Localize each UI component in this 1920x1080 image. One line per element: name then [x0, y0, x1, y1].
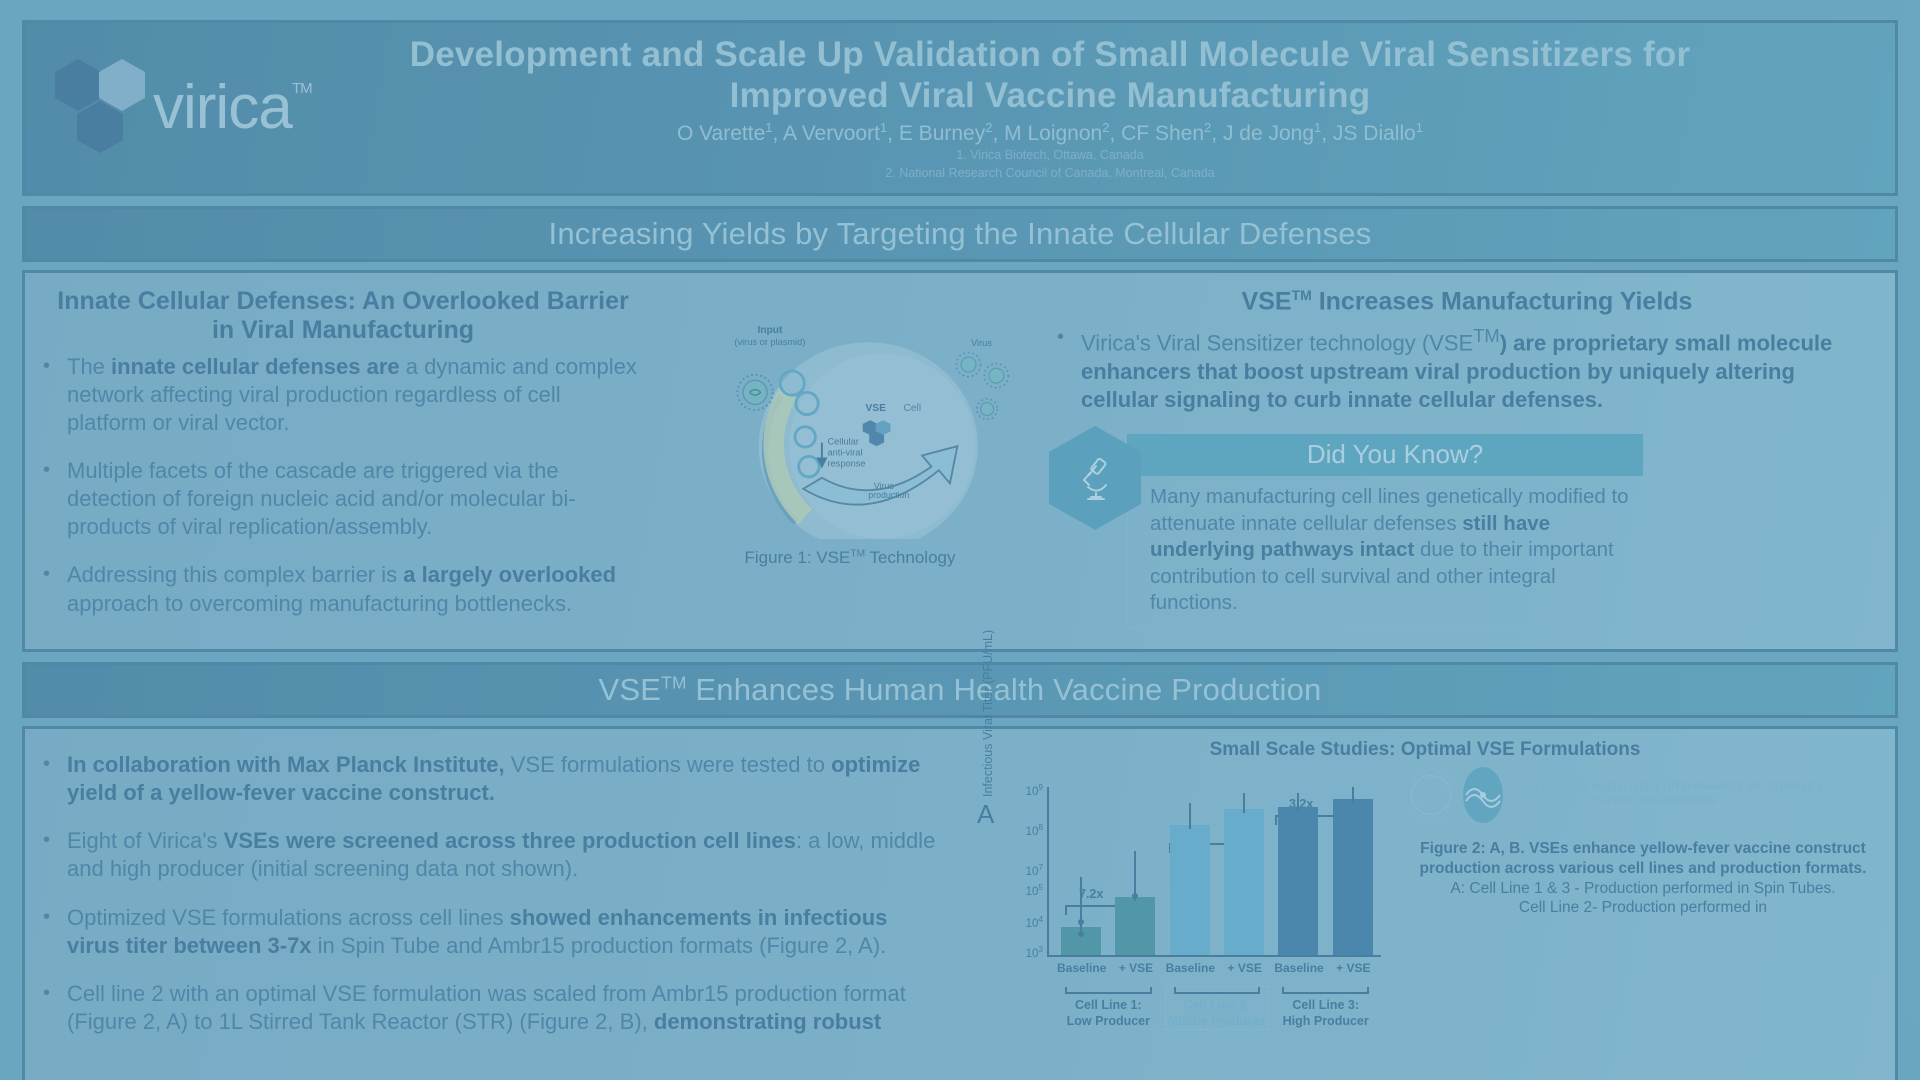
chart-group-labels: Cell Line 1: Low Producer Cell Line 2: M… [1057, 987, 1377, 1029]
bullet-dot-icon: • [1057, 324, 1067, 414]
affiliation-1: 1. Virica Biotech, Ottawa, Canada [351, 147, 1749, 164]
chart-x-tick-labels: Baseline + VSE Baseline + VSE Baseline +… [1057, 961, 1377, 975]
bar-cellline1-baseline [1061, 927, 1101, 955]
figure-2-container: Small Scale Studies: Optimal VSE Formula… [955, 729, 1895, 1080]
bar-group [1329, 799, 1377, 955]
label-antiviral-3: response [827, 459, 865, 469]
bar-group [1057, 927, 1105, 955]
bar-group [1220, 809, 1268, 955]
x-label: + VSE [1330, 961, 1377, 975]
hexagon-shape-dark-bottom [77, 101, 123, 153]
label-antiviral-2: anti-viral [827, 447, 862, 457]
bar-cellline1-vse [1115, 897, 1155, 955]
bullet-dot-icon: • [43, 827, 53, 883]
list-item: • Virica's Viral Sensitizer technology (… [1057, 324, 1877, 414]
label-antiviral-1: Cellular [827, 436, 858, 446]
figure-2-caption-a: A: Cell Line 1 & 3 - Production performe… [1409, 879, 1877, 899]
group-cellline2: Cell Line 2: Middle Producer [1166, 987, 1269, 1029]
list-item: • Multiple facets of the cascade are tri… [43, 457, 643, 541]
hexagon-logo-icon [51, 53, 147, 163]
figure-panel-letter-a: A [977, 799, 994, 830]
label-input-sub: (virus or plasmid) [734, 337, 805, 347]
list-item: • In collaboration with Max Planck Insti… [43, 751, 937, 807]
bar-cellline3-vse [1333, 799, 1373, 955]
bullet-dot-icon: • [43, 751, 53, 807]
hexagon-shape-dark-top [55, 59, 101, 111]
did-you-know-header: Did You Know? [1127, 434, 1643, 476]
vse-technology-diagram: Input (virus or plasmid) Cell Cellular a… [679, 307, 1039, 539]
title-block: Development and Scale Up Validation of S… [351, 34, 1869, 182]
section-1-panel: Innate Cellular Defenses: An Overlooked … [22, 270, 1898, 652]
bullet-dot-icon: • [43, 353, 53, 437]
group-label: Cell Line 2: Middle Producer [1166, 998, 1269, 1029]
y-tick-1e9: 109 [1017, 783, 1043, 798]
bullet-text: In collaboration with Max Planck Institu… [67, 751, 937, 807]
list-item: • The innate cellular defenses are a dyn… [43, 353, 643, 437]
max-planck-institute-text: MAX PLANCK INSTITUTE FOR DYNAMICS OF COM… [1513, 781, 1877, 809]
chart-y-axis [1047, 787, 1049, 957]
poster-header: virica TM Development and Scale Up Valid… [22, 20, 1898, 196]
bar-cellline2-vse [1224, 809, 1264, 955]
bullet-text: Cell line 2 with an optimal VSE formulat… [67, 980, 937, 1036]
figure-1-container: Input (virus or plasmid) Cell Cellular a… [661, 273, 1039, 649]
bullet-text: Optimized VSE formulations across cell l… [67, 904, 937, 960]
max-planck-seal-icon [1409, 768, 1453, 822]
viral-titer-bar-chart: Infectious Viral Titer (PFU/mL) 109 108 … [1047, 787, 1377, 957]
figure-2-caption: Figure 2: A, B. VSEs enhance yellow-feve… [1409, 839, 1877, 918]
virica-wordmark-text: virica [153, 73, 292, 142]
did-you-know-title: Did You Know? [1307, 439, 1483, 470]
section-2-panel: • In collaboration with Max Planck Insti… [22, 726, 1898, 1080]
group-label: Cell Line 3: High Producer [1274, 998, 1377, 1029]
innate-defenses-bullets: • The innate cellular defenses are a dyn… [43, 353, 643, 618]
chart-x-axis [1047, 955, 1381, 957]
bullet-text: Virica's Viral Sensitizer technology (VS… [1081, 324, 1877, 414]
y-tick-1e8: 108 [1017, 823, 1043, 838]
label-virus: Virus [971, 338, 992, 348]
y-tick-1e3: 103 [1017, 945, 1043, 960]
input-virus-particle [737, 375, 772, 410]
group-bracket [1065, 987, 1152, 994]
vse-yields-subhead: VSETM Increases Manufacturing Yields [1057, 287, 1877, 316]
vse-yields-column: VSETM Increases Manufacturing Yields • V… [1039, 273, 1895, 649]
list-item: • Cell line 2 with an optimal VSE formul… [43, 980, 937, 1036]
list-item: • Addressing this complex barrier is a l… [43, 561, 643, 617]
group-label: Cell Line 1: Low Producer [1057, 998, 1160, 1029]
bullet-text: The innate cellular defenses are a dynam… [67, 353, 643, 437]
virica-logo: virica TM [51, 53, 351, 163]
bar-cellline3-baseline [1278, 807, 1318, 955]
bullet-dot-icon: • [43, 457, 53, 541]
max-planck-mark-icon [1463, 767, 1503, 823]
svg-text:VSE: VSE [866, 403, 887, 414]
label-cell: Cell [904, 403, 922, 414]
vaccine-production-bullets-column: • In collaboration with Max Planck Insti… [25, 729, 955, 1080]
x-label: + VSE [1221, 961, 1268, 975]
innate-defenses-column: Innate Cellular Defenses: An Overlooked … [25, 273, 661, 649]
innate-defenses-subhead: Innate Cellular Defenses: An Overlooked … [43, 287, 643, 345]
bar-group [1274, 807, 1322, 955]
section-1-title: Increasing Yields by Targeting the Innat… [549, 216, 1372, 252]
bullet-text: Multiple facets of the cascade are trigg… [67, 457, 643, 541]
group-cellline1: Cell Line 1: Low Producer [1057, 987, 1160, 1029]
figure-1-caption: Figure 1: VSETM Technology [679, 548, 1021, 568]
bullet-text: Addressing this complex barrier is a lar… [67, 561, 643, 617]
list-item: • Optimized VSE formulations across cell… [43, 904, 937, 960]
y-tick-1e4: 104 [1017, 915, 1043, 930]
group-bracket [1174, 987, 1261, 994]
section-bar-1: Increasing Yields by Targeting the Innat… [22, 206, 1898, 262]
hexagon-shape-light [99, 59, 145, 111]
poster-root: virica TM Development and Scale Up Valid… [0, 0, 1920, 1080]
trademark-symbol: TM [292, 81, 312, 96]
bar-group [1166, 825, 1214, 955]
section-2-title: VSETM Enhances Human Health Vaccine Prod… [599, 672, 1322, 708]
label-input: Input [757, 325, 782, 336]
bar-group [1111, 897, 1159, 955]
chart-bars [1057, 787, 1377, 955]
group-bracket [1282, 987, 1369, 994]
y-tick-1e5: 105 [1017, 883, 1043, 898]
bar-cellline2-baseline [1170, 825, 1210, 955]
chart-title: Small Scale Studies: Optimal VSE Formula… [973, 739, 1877, 761]
x-label: Baseline [1166, 961, 1215, 975]
x-label: Baseline [1057, 961, 1106, 975]
label-virus-production-2: production [868, 490, 909, 500]
max-planck-logos: MAX PLANCK INSTITUTE FOR DYNAMICS OF COM… [1409, 767, 1877, 823]
author-list: O Varette1, A Vervoort1, E Burney2, M Lo… [351, 120, 1749, 146]
figure-2-side: MAX PLANCK INSTITUTE FOR DYNAMICS OF COM… [1403, 765, 1877, 957]
chart-area: A Infectious Viral Titer (PFU/mL) 109 10… [973, 765, 1403, 957]
group-cellline3: Cell Line 3: High Producer [1274, 987, 1377, 1029]
page-title: Development and Scale Up Validation of S… [351, 34, 1749, 117]
figure-2-caption-b: Cell Line 2- Production performed in [1409, 898, 1877, 918]
affiliation-2: 2. National Research Council of Canada, … [351, 165, 1749, 182]
vse-yields-bullets: • Virica's Viral Sensitizer technology (… [1057, 324, 1877, 414]
bullet-text: Eight of Virica's VSEs were screened acr… [67, 827, 937, 883]
list-item: • Eight of Virica's VSEs were screened a… [43, 827, 937, 883]
x-label: + VSE [1112, 961, 1159, 975]
vaccine-production-bullets: • In collaboration with Max Planck Insti… [43, 751, 937, 1036]
section-bar-2: VSETM Enhances Human Health Vaccine Prod… [22, 662, 1898, 718]
virica-wordmark: virica TM [153, 77, 292, 139]
bullet-dot-icon: • [43, 904, 53, 960]
chart-zone: A Infectious Viral Titer (PFU/mL) 109 10… [973, 765, 1877, 957]
bullet-dot-icon: • [43, 980, 53, 1036]
did-you-know-body: Many manufacturing cell lines geneticall… [1127, 476, 1643, 628]
x-label: Baseline [1274, 961, 1323, 975]
did-you-know-callout: Did You Know? Many manufacturing cell li… [1083, 434, 1643, 628]
y-tick-1e7: 107 [1017, 863, 1043, 878]
chart-y-axis-label: Infectious Viral Titer (PFU/mL) [981, 637, 995, 797]
bullet-dot-icon: • [43, 561, 53, 617]
